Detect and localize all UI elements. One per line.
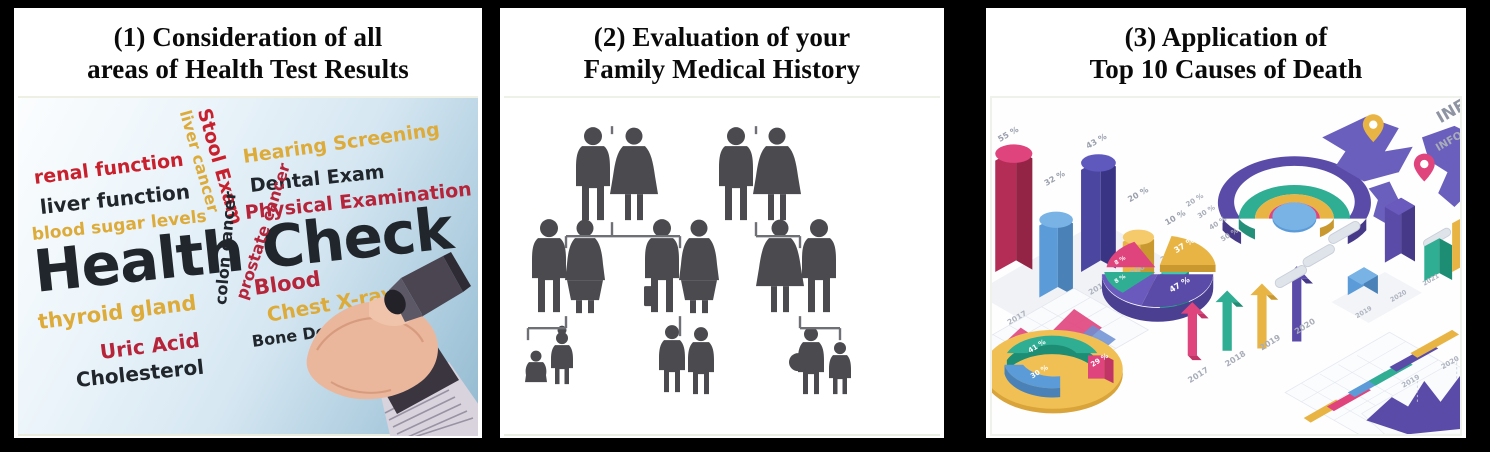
ring-label-1: 20 % [1185, 192, 1205, 209]
panel-2-figure [504, 96, 940, 436]
infographic-heading-line-1: INFOGRAPHIC [1433, 98, 1460, 127]
bar-value-5: 10 % [1163, 207, 1187, 227]
panel-2-title-line-2: Family Medical History [506, 54, 938, 86]
isometric-donut-chart: 41 % 30 % 29 % [992, 330, 1123, 413]
panel-3-title: (3) Application of Top 10 Causes of Deat… [986, 8, 1466, 96]
isometric-infographic-image: 55 % 32 % 43 % 20 % 10 % 2017 2018 2019 … [990, 96, 1462, 436]
panel-2-title-line-1: (2) Evaluation of your [506, 22, 938, 54]
panel-3-title-line-1: (3) Application of [992, 22, 1460, 54]
gutter-between-panel-2-and-3 [944, 0, 986, 452]
panel-3-figure: 55 % 32 % 43 % 20 % 10 % 2017 2018 2019 … [990, 96, 1462, 436]
three-panel-figure: (1) Consideration of all areas of Health… [0, 0, 1490, 452]
panel-1-title-line-2: areas of Health Test Results [20, 54, 476, 86]
health-check-wordcloud-image: renal function liver function blood suga… [18, 96, 478, 436]
gutter-between-panel-1-and-2 [482, 0, 500, 452]
family-tree-image [504, 96, 940, 436]
bar-value-1: 55 % [996, 124, 1020, 144]
family-tree-svg [504, 98, 940, 434]
bar-value-3: 43 % [1084, 131, 1108, 151]
ring-label-2: 30 % [1196, 203, 1216, 220]
outer-left-gutter [0, 0, 14, 452]
cluster-year-3: 2021 [1421, 272, 1440, 288]
bar-value-4: 20 % [1126, 184, 1150, 204]
wordcloud-word-cholesterol: Cholesterol [75, 354, 205, 391]
map-pin-pink-center [1414, 153, 1435, 181]
panel-1-figure: renal function liver function blood suga… [18, 96, 478, 436]
panel-application-top-10-causes-of-death: (3) Application of Top 10 Causes of Deat… [986, 8, 1466, 438]
infographic-svg: 55 % 32 % 43 % 20 % 10 % 2017 2018 2019 … [992, 98, 1460, 434]
isometric-small-bar-cluster: 2019 2020 2021 [1332, 185, 1460, 323]
arrow-year-2017: 2017 [1186, 364, 1210, 384]
panel-3-title-line-2: Top 10 Causes of Death [992, 54, 1460, 86]
wordcloud-word-hearing-screening: Hearing Screening [241, 118, 441, 167]
panel-evaluation-family-medical-history: (2) Evaluation of your Family Medical Hi… [500, 8, 944, 438]
panel-1-title-line-1: (1) Consideration of all [20, 22, 476, 54]
panel-consideration-health-test-results: (1) Consideration of all areas of Health… [14, 8, 482, 438]
panel-1-title: (1) Consideration of all areas of Health… [14, 8, 482, 96]
outer-right-gutter [1466, 0, 1476, 452]
bar-value-2: 32 % [1042, 168, 1066, 188]
arrow-year-2018: 2018 [1223, 348, 1248, 369]
panel-2-title: (2) Evaluation of your Family Medical Hi… [500, 8, 944, 96]
